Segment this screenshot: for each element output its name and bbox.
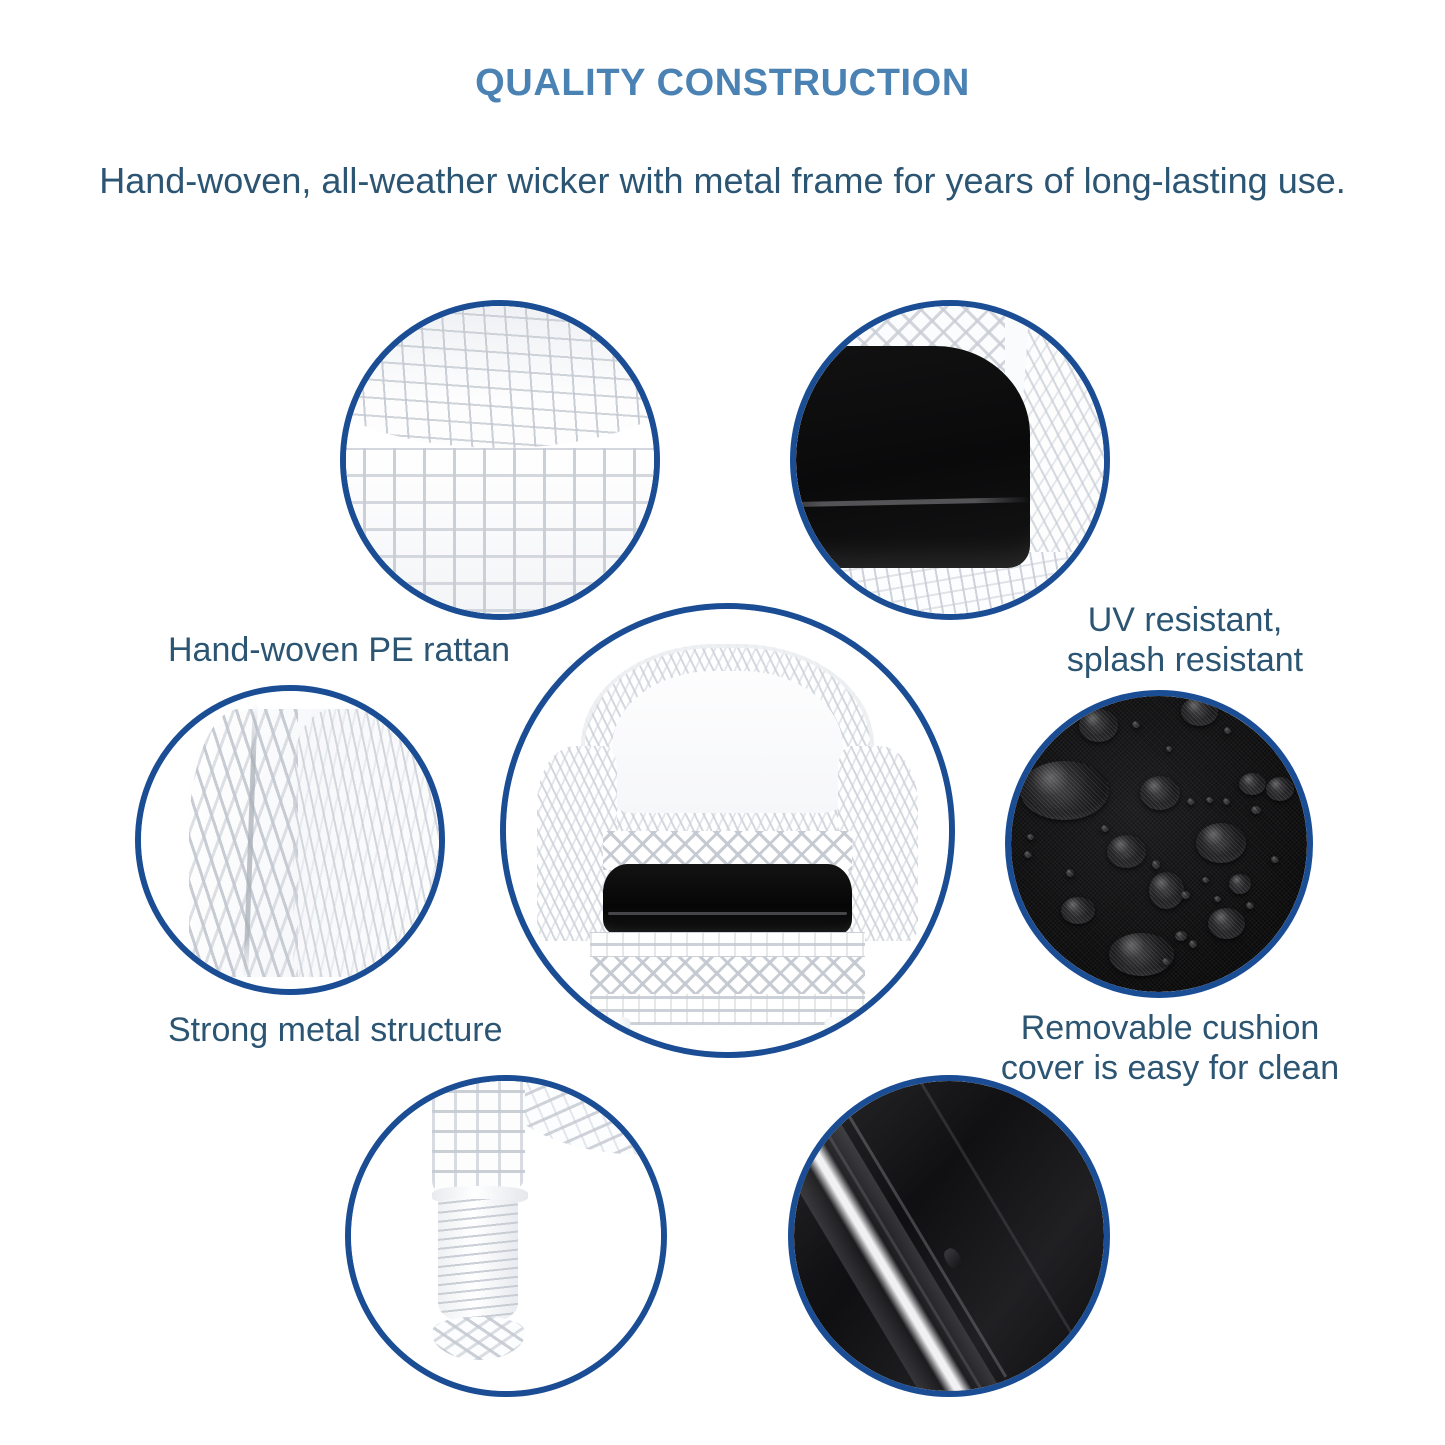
- wicker-arm-corner-photo: [141, 691, 439, 989]
- water-droplet: [1196, 823, 1246, 863]
- water-droplet: [1101, 825, 1109, 832]
- fabric-sheen-overlay: [794, 1081, 1104, 1391]
- page-title: QUALITY CONSTRUCTION: [0, 62, 1445, 105]
- infographic-page: QUALITY CONSTRUCTION Hand-woven, all-wea…: [0, 0, 1445, 1445]
- feature-caption-hand-woven-pe-rattan: Hand-woven PE rattan: [168, 630, 588, 670]
- water-droplet: [1175, 931, 1187, 941]
- water-droplet: [1061, 897, 1095, 924]
- water-droplet: [1162, 958, 1170, 965]
- chair-backrest-inner-panel: [612, 671, 842, 813]
- chair-black-seat-cushion: [603, 864, 851, 935]
- water-droplet: [1166, 746, 1172, 752]
- feature-circle-hand-woven-pe-rattan: [340, 300, 660, 620]
- cushion-zipper-photo: [794, 1081, 1104, 1391]
- water-droplet: [1152, 860, 1161, 868]
- water-droplet: [1020, 761, 1109, 820]
- rattan-weave-arc-texture: [346, 306, 654, 448]
- water-droplet: [1208, 908, 1245, 939]
- feature-caption-strong-metal-structure: Strong metal structure: [168, 1010, 598, 1050]
- leg-woven-foot: [432, 1317, 525, 1360]
- chair-leg-right: [824, 1016, 851, 1052]
- feature-caption-removable-cushion-cover: Removable cushion cover is easy for clea…: [985, 1008, 1355, 1088]
- water-droplet: [1229, 874, 1251, 895]
- water-droplet: [1107, 835, 1145, 868]
- water-droplet: [1181, 891, 1190, 899]
- rattan-weave-photo: [346, 306, 654, 614]
- water-droplet: [1246, 902, 1254, 909]
- rattan-weave-basket-texture: [346, 448, 654, 614]
- white-wicker-armchair-photo: [506, 609, 949, 1052]
- water-droplet: [1206, 797, 1213, 803]
- arm-open-weave-face: [189, 709, 299, 977]
- cushion-on-wicker-photo: [796, 306, 1104, 614]
- water-droplet: [1239, 773, 1266, 795]
- chair-leg-left: [604, 1016, 631, 1052]
- water-droplet: [1224, 727, 1231, 734]
- feature-circle-strong-metal-structure: [135, 685, 445, 995]
- water-droplet: [1109, 933, 1174, 976]
- water-droplet: [1214, 896, 1221, 903]
- water-droplet: [1140, 776, 1180, 810]
- water-droplet: [1024, 851, 1032, 858]
- water-droplet: [1202, 877, 1209, 884]
- wicker-chair-leg-photo: [351, 1081, 661, 1391]
- water-droplet: [1027, 834, 1034, 841]
- chair-cushion-seam: [608, 912, 847, 915]
- water-droplet: [1066, 869, 1074, 876]
- water-droplet: [1181, 697, 1218, 725]
- feature-circle-uv-splash-resistant: [790, 300, 1110, 620]
- leg-upper-weave: [432, 1081, 525, 1193]
- arm-tight-weave-face: [293, 709, 439, 977]
- water-droplet: [1189, 940, 1198, 948]
- water-droplet: [1149, 872, 1185, 909]
- chair-arm-block: [189, 709, 439, 977]
- water-droplet: [1187, 798, 1195, 805]
- water-droplet: [1271, 856, 1279, 863]
- black-seat-cushion: [796, 346, 1030, 568]
- water-droplet: [1223, 798, 1230, 805]
- feature-caption-uv-splash-resistant: UV resistant, splash resistant: [1035, 600, 1335, 680]
- feature-circle-wicker-leg: [345, 1075, 667, 1397]
- water-droplet: [1251, 806, 1261, 815]
- chair-skirt-lattice: [590, 957, 865, 997]
- water-droplet: [1079, 709, 1117, 742]
- water-droplet: [1132, 721, 1140, 728]
- water-repellent-fabric-photo: [1011, 696, 1307, 992]
- feature-circle-removable-cushion-cover: [1005, 690, 1313, 998]
- chair-seat-rail-upper: [590, 932, 865, 959]
- feature-circle-cushion-zipper: [788, 1075, 1110, 1397]
- leg-coiled-wrap: [438, 1199, 519, 1323]
- page-subtitle: Hand-woven, all-weather wicker with meta…: [0, 160, 1445, 202]
- feature-circle-chair-product: [500, 603, 955, 1058]
- water-droplet: [1266, 777, 1294, 801]
